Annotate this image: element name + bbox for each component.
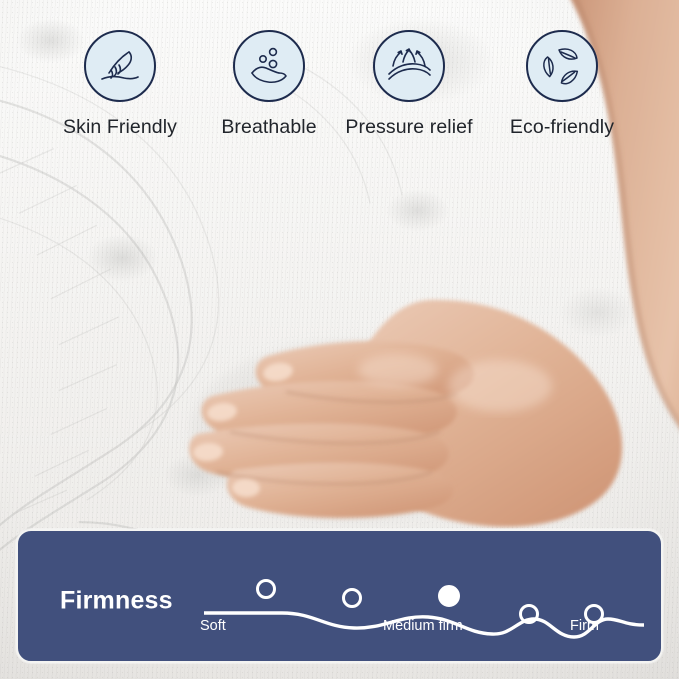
firmness-label-soft: Soft: [200, 618, 226, 634]
feature-label: Eco-friendly: [492, 116, 632, 139]
hand-with-bubbles-icon: [233, 30, 305, 102]
firmness-marker-2[interactable]: [344, 590, 361, 607]
firmness-scale[interactable]: [204, 541, 644, 659]
feature-pressure-relief[interactable]: Pressure relief: [339, 30, 479, 139]
firmness-panel: Firmness: [16, 529, 663, 663]
feature-label: Breathable: [199, 116, 339, 139]
feature-label: Pressure relief: [339, 116, 479, 139]
firmness-wave-graphic: [204, 541, 644, 659]
firmness-marker-1[interactable]: [258, 581, 275, 598]
feature-breathable[interactable]: Breathable: [199, 30, 339, 139]
arched-surface-up-arrows-icon: [373, 30, 445, 102]
firmness-title: Firmness: [60, 587, 173, 616]
feature-label: Skin Friendly: [50, 116, 190, 139]
feature-badges: Skin Friendly Breathable: [0, 30, 679, 165]
firmness-marker-3-selected[interactable]: [440, 587, 459, 606]
feature-skin-friendly[interactable]: Skin Friendly: [50, 30, 190, 139]
firmness-label-medium: Medium firm: [383, 618, 463, 634]
firmness-label-firm: Firm: [570, 618, 599, 634]
product-image: Skin Friendly Breathable: [0, 0, 679, 679]
hand-press-fabric-icon: [84, 30, 156, 102]
three-leaves-recycle-icon: [526, 30, 598, 102]
feature-eco-friendly[interactable]: Eco-friendly: [492, 30, 632, 139]
